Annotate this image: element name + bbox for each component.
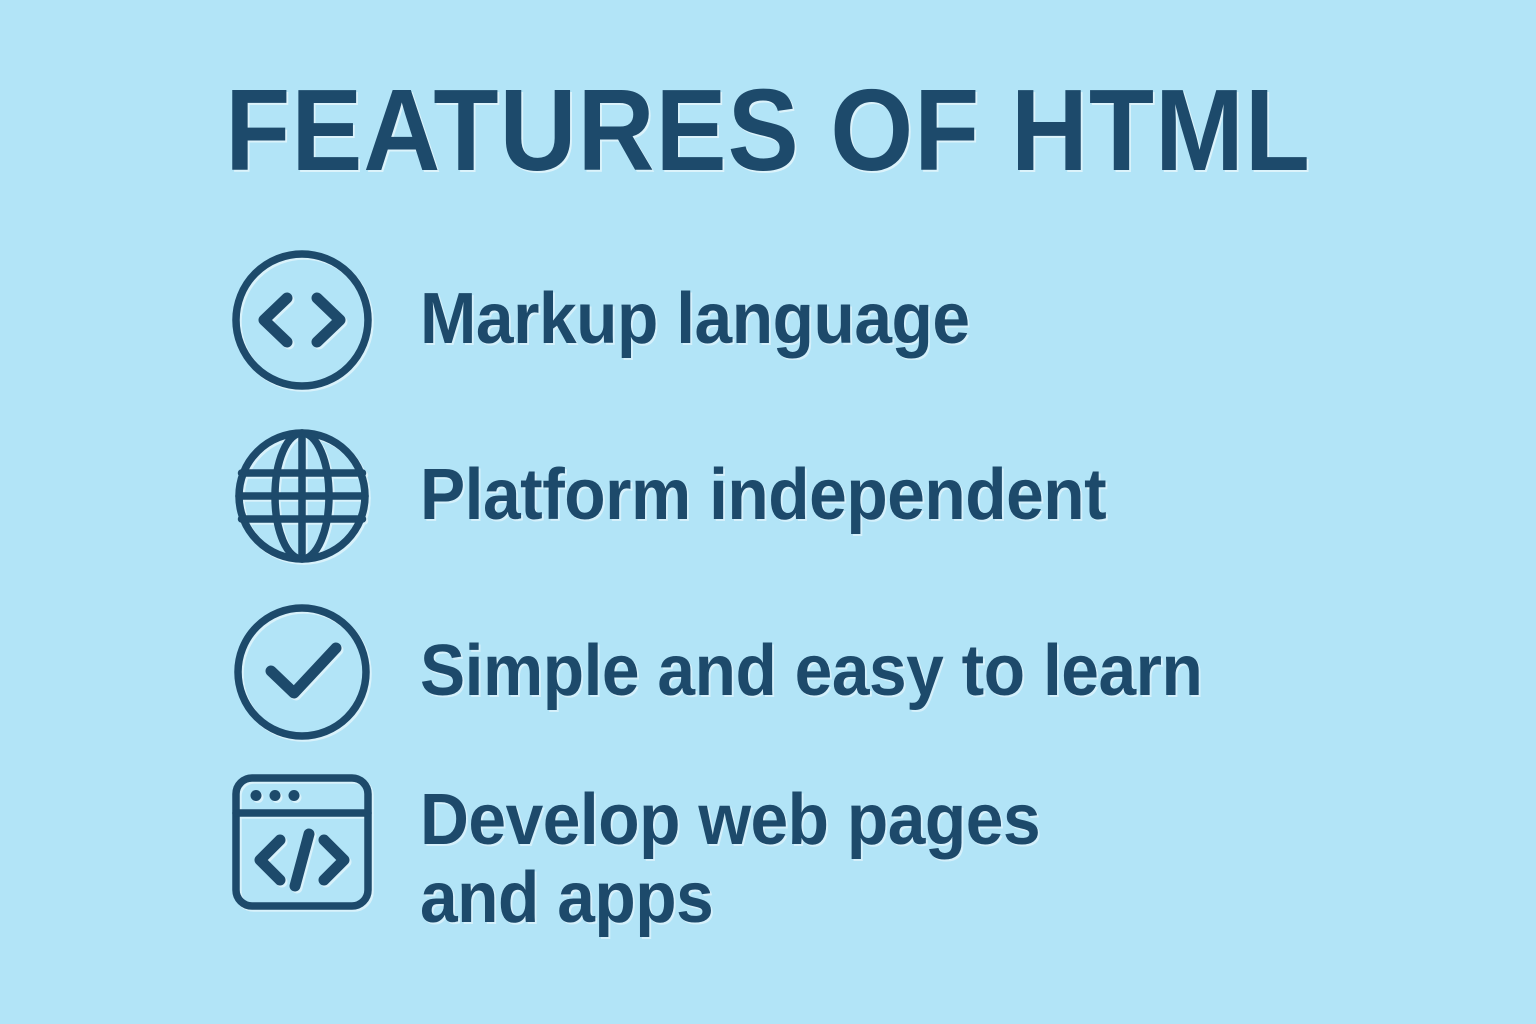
page-title: FEATURES OF HTML [61,72,1474,188]
feature-label: Simple and easy to learn [420,633,1469,711]
feature-label: Markup language [420,281,1469,359]
check-circle-icon [228,598,376,746]
feature-item-markup-language: Markup language [0,232,1536,408]
feature-label: Platform independent [420,457,1469,535]
browser-window-code-icon [228,768,376,916]
feature-list: Markup language Platform independent [0,232,1536,960]
feature-item-develop-web-pages-and-apps: Develop web pages and apps [0,760,1536,960]
infographic-canvas: FEATURES OF HTML Markup language [0,0,1536,1024]
code-brackets-circle-icon [228,246,376,394]
feature-label: Develop web pages and apps [420,782,1469,938]
globe-icon [228,422,376,570]
feature-item-simple-easy-to-learn: Simple and easy to learn [0,584,1536,760]
feature-item-platform-independent: Platform independent [0,408,1536,584]
